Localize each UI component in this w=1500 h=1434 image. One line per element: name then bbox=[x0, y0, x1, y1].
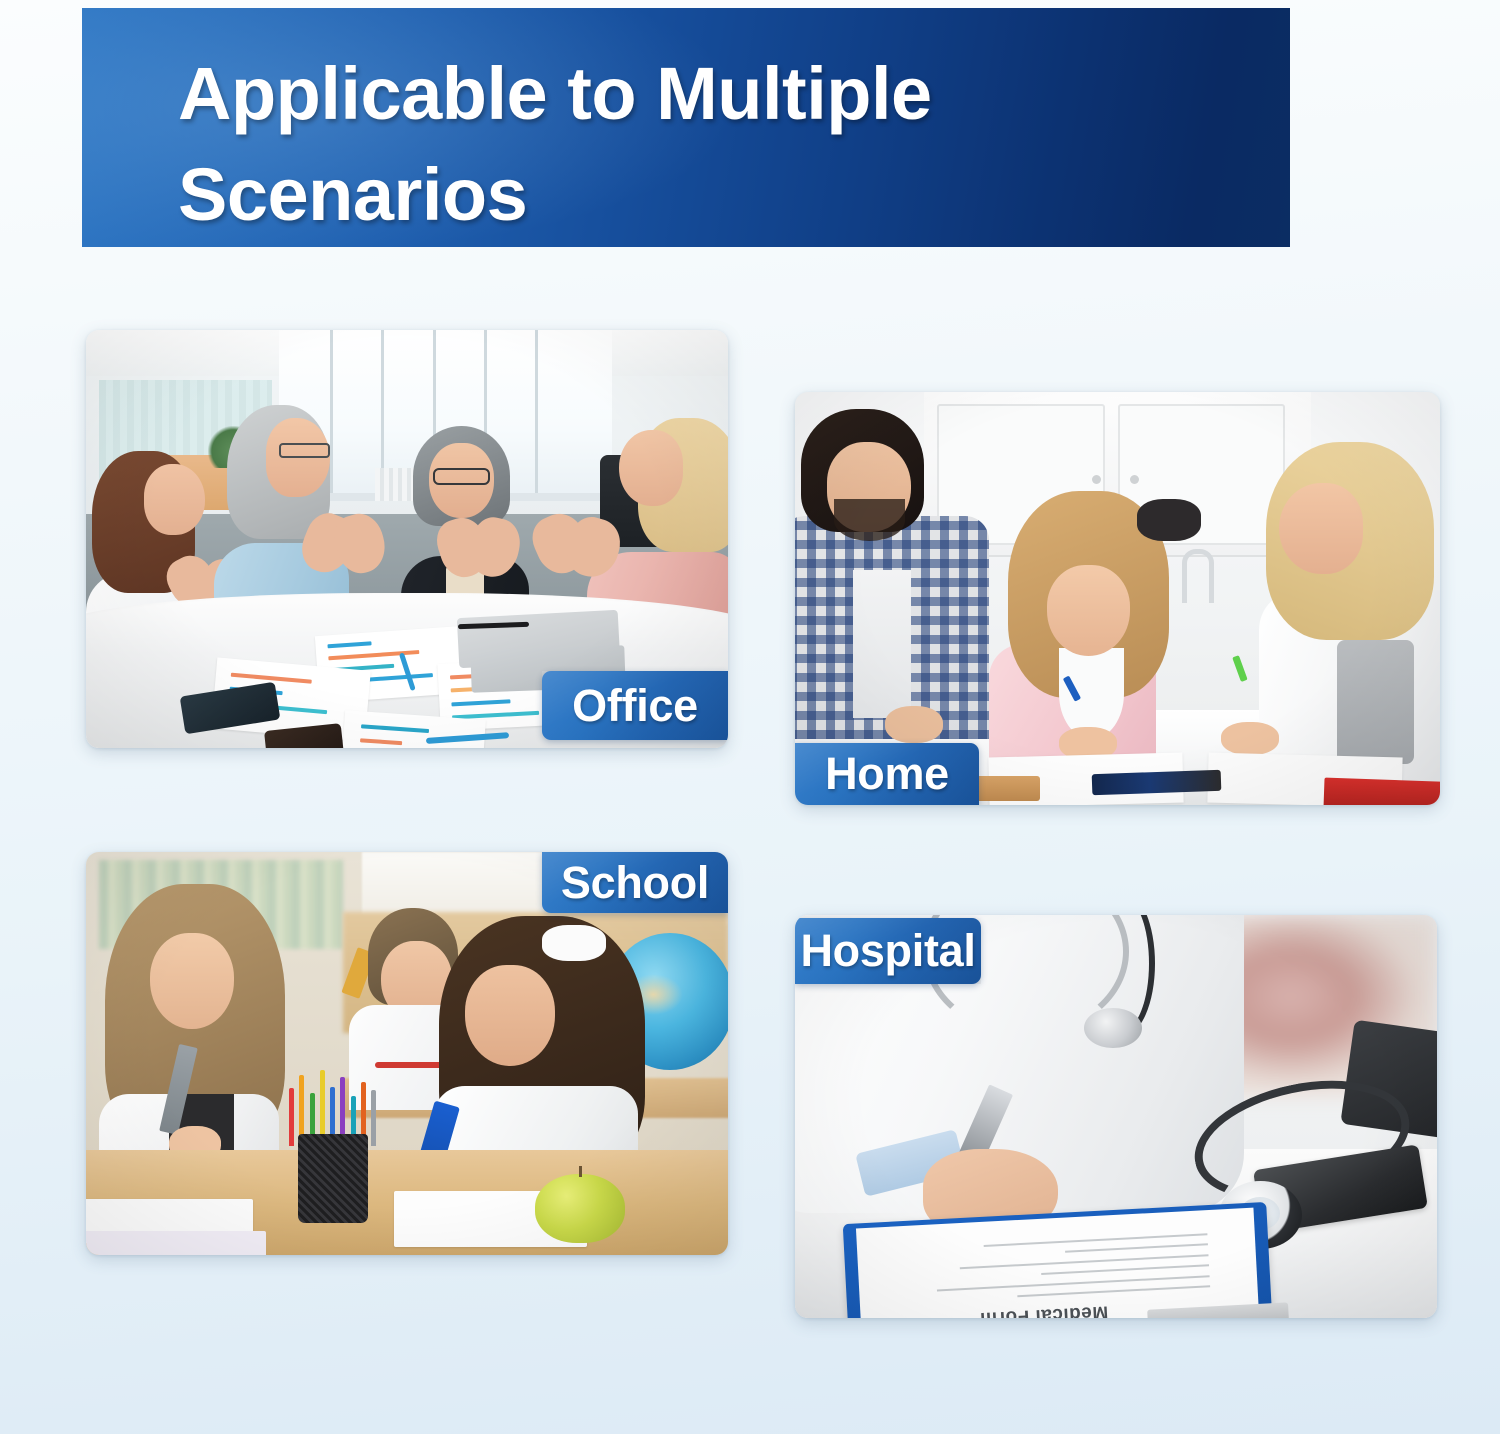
page-title-line-1: Applicable to Multiple bbox=[178, 44, 1270, 145]
pen-icon bbox=[1091, 770, 1221, 795]
badge-hospital-label: Hospital bbox=[800, 925, 975, 977]
pencil-cup-icon bbox=[298, 1134, 369, 1223]
page-title: Applicable to Multiple Scenarios bbox=[178, 44, 1270, 245]
scenario-card-home[interactable]: Home bbox=[795, 392, 1440, 805]
badge-school-label: School bbox=[561, 857, 709, 909]
medical-form-title: Medical Form bbox=[980, 1301, 1109, 1318]
eyeglasses-icon bbox=[279, 443, 330, 458]
page-title-line-2: Scenarios bbox=[178, 145, 1270, 246]
faucet-icon bbox=[1182, 549, 1214, 603]
badge-home[interactable]: Home bbox=[795, 743, 979, 805]
scenario-card-office[interactable]: Office bbox=[86, 330, 728, 748]
apple-icon bbox=[535, 1174, 625, 1243]
badge-home-label: Home bbox=[825, 748, 949, 800]
scenario-card-school[interactable]: School bbox=[86, 852, 728, 1255]
eyeglasses-icon bbox=[433, 468, 491, 485]
badge-school[interactable]: School bbox=[542, 852, 728, 913]
badge-hospital[interactable]: Hospital bbox=[795, 918, 981, 984]
badge-office[interactable]: Office bbox=[542, 671, 728, 740]
badge-office-label: Office bbox=[572, 680, 698, 732]
header-banner: Applicable to Multiple Scenarios bbox=[82, 8, 1290, 247]
scenario-card-hospital[interactable]: Medical Form Hospital bbox=[795, 915, 1437, 1318]
